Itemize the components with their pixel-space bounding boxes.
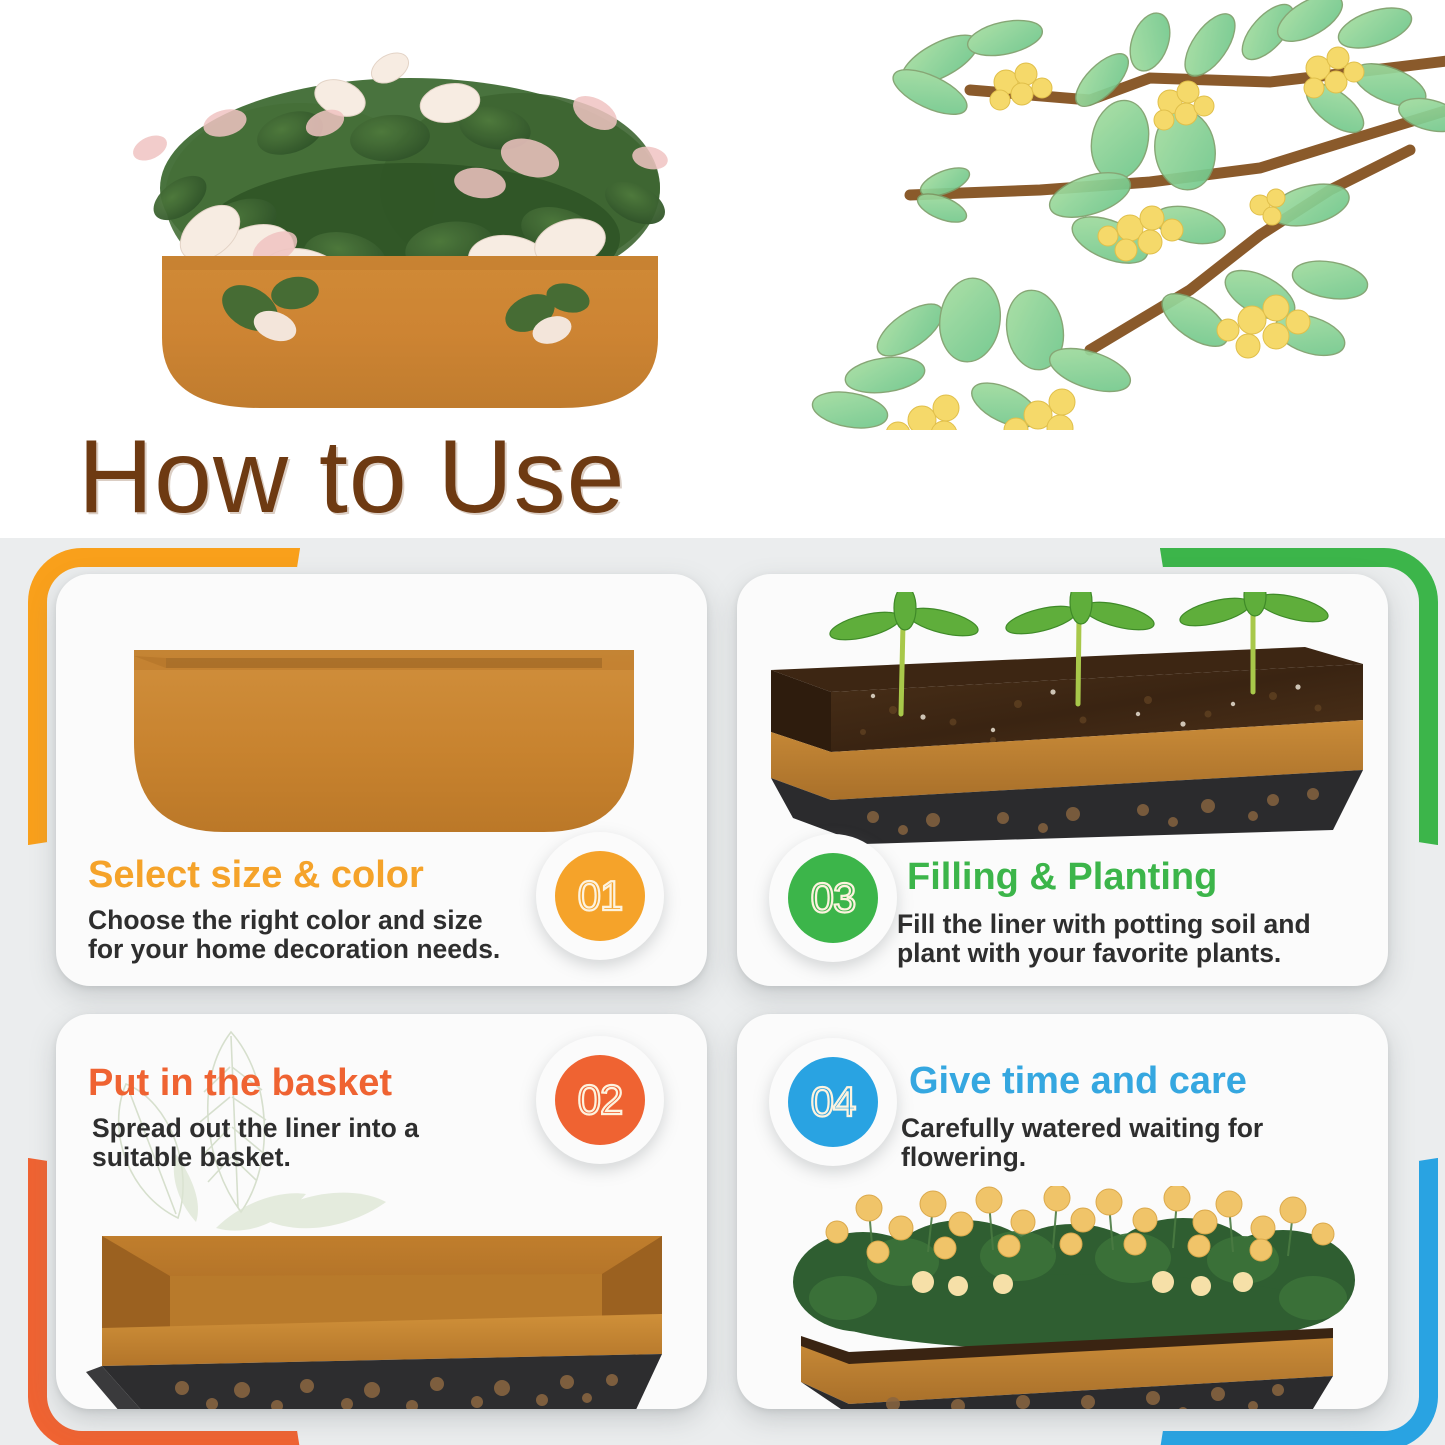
step-04-image	[753, 1186, 1378, 1409]
step-04-text: Give time and care Carefully watered wai…	[909, 1060, 1379, 1172]
step-01-heading: Select size & color	[88, 854, 588, 896]
step-03-image	[753, 592, 1378, 847]
step-02-description: Spread out the liner into a suitable bas…	[92, 1114, 588, 1172]
step-card-03[interactable]: 03 Filling & Planting Fill the liner wit…	[737, 574, 1388, 986]
step-03-text: Filling & Planting Fill the liner with p…	[907, 856, 1377, 968]
step-04-description: Carefully watered waiting for flowering.	[901, 1114, 1379, 1172]
step-03-badge: 03	[788, 853, 878, 943]
hero-section: How to Use	[0, 0, 1445, 538]
page-title: How to Use	[78, 425, 878, 529]
steps-grid: Select size & color Choose the right col…	[0, 538, 1445, 1445]
step-04-heading: Give time and care	[909, 1060, 1379, 1102]
step-04-badge: 04	[788, 1057, 878, 1147]
page-title-wrap: How to Use	[78, 425, 878, 535]
step-card-02[interactable]: Put in the basket Spread out the liner i…	[56, 1014, 707, 1409]
step-02-image	[62, 1218, 702, 1409]
how-to-use-infographic: How to Use Select size & color Choose th…	[0, 0, 1445, 1445]
step-01-description: Choose the right color and size for your…	[88, 906, 588, 964]
step-card-04[interactable]: 04 Give time and care Carefully watered …	[737, 1014, 1388, 1409]
step-01-badge: 01	[555, 851, 645, 941]
step-03-heading: Filling & Planting	[907, 856, 1377, 898]
step-card-01[interactable]: Select size & color Choose the right col…	[56, 574, 707, 986]
step-01-image	[114, 622, 654, 847]
step-03-description: Fill the liner with potting soil and pla…	[897, 910, 1377, 968]
hero-planter-image	[90, 8, 730, 418]
step-01-text: Select size & color Choose the right col…	[88, 854, 588, 964]
step-02-badge: 02	[555, 1055, 645, 1145]
step-02-heading: Put in the basket	[88, 1062, 588, 1104]
osmanthus-branch-illustration	[790, 0, 1445, 430]
step-02-text: Put in the basket Spread out the liner i…	[88, 1062, 588, 1172]
